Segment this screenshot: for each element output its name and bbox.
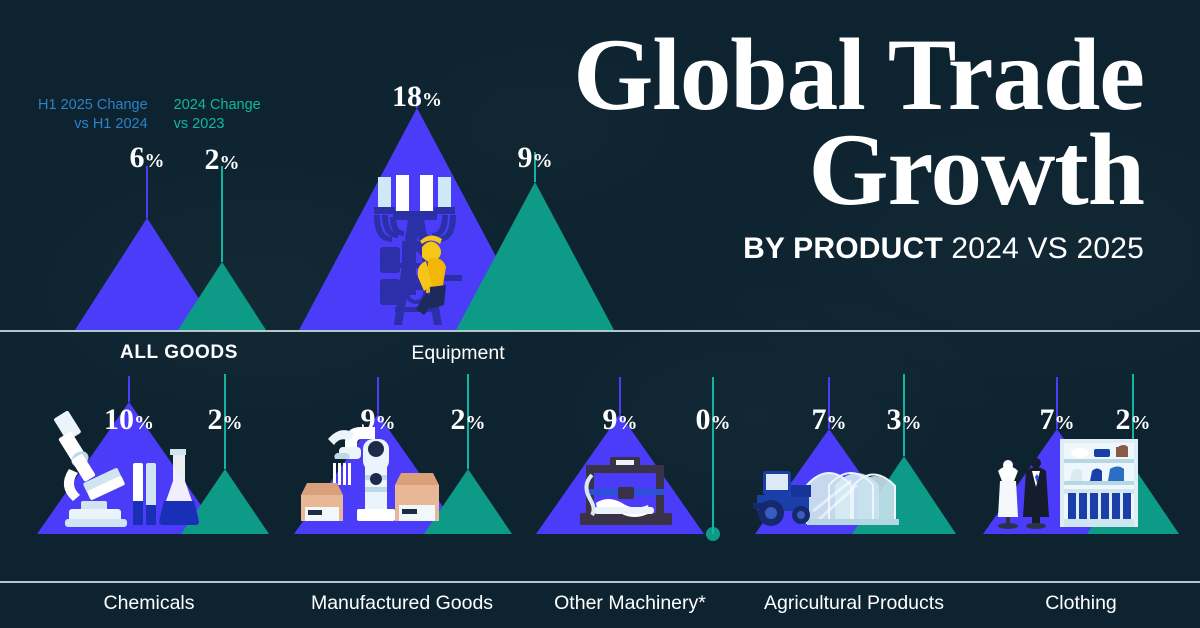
clothing-h1-2025-value-number: 7 [1040, 403, 1055, 436]
manufactured-goods-h1-2025-value-percent-sign: % [376, 412, 396, 434]
category-label-clothing: Clothing [1045, 592, 1117, 615]
clothing-h1-2025-value-percent-sign: % [1055, 412, 1075, 434]
category-label-manufactured-goods: Manufactured Goods [311, 592, 493, 615]
other-machinery-2024-value-percent-sign: % [711, 412, 731, 434]
agricultural-products-h1-2025-value-percent-sign: % [827, 412, 847, 434]
all-goods-2024-triangle [178, 262, 266, 330]
manufactured-goods-2024-value-percent-sign: % [466, 412, 486, 434]
chart-row-top: 6%2%18%9% [0, 0, 1200, 330]
clothing-2024-value-number: 2 [1116, 403, 1131, 436]
chemicals-h1-2025-value-percent-sign: % [134, 412, 154, 434]
other-machinery-2024-value: 0% [696, 405, 731, 435]
equipment-h1-2025-value-number: 18 [392, 80, 422, 113]
category-label-chemicals: Chemicals [103, 592, 194, 615]
other-machinery-2024-stem [712, 377, 714, 534]
clothing-2024-value: 2% [1116, 405, 1151, 435]
chemicals-h1-2025-stem [128, 376, 130, 402]
agricultural-products-h1-2025-value: 7% [812, 405, 847, 435]
manufactured-goods-h1-2025-value: 9% [361, 405, 396, 435]
3d-printer-icon [570, 453, 690, 534]
cell-tower-icon [350, 175, 480, 330]
manufactured-goods-2024-value: 2% [451, 405, 486, 435]
other-machinery-h1-2025-value-percent-sign: % [618, 412, 638, 434]
equipment-2024-value-number: 9 [518, 141, 533, 174]
chemicals-h1-2025-value: 10% [104, 405, 154, 435]
other-machinery-h1-2025-value: 9% [603, 405, 638, 435]
equipment-2024-value: 9% [518, 143, 553, 173]
all-goods-2024-value: 2% [205, 145, 240, 175]
all-goods-h1-2025-value-percent-sign: % [145, 150, 165, 172]
all-goods-2024-stem [221, 166, 223, 262]
chemicals-2024-value-number: 2 [208, 403, 223, 436]
agricultural-products-h1-2025-value-number: 7 [812, 403, 827, 436]
other-machinery-2024-value-number: 0 [696, 403, 711, 436]
divider-bottom [0, 581, 1200, 583]
clothing-2024-value-percent-sign: % [1131, 412, 1151, 434]
equipment-h1-2025-value: 18% [392, 82, 442, 112]
manufactured-goods-h1-2025-value-number: 9 [361, 403, 376, 436]
agricultural-products-2024-value: 3% [887, 405, 922, 435]
all-goods-2024-value-percent-sign: % [220, 152, 240, 174]
clothing-store-icon [982, 437, 1142, 534]
category-label-agricultural-products: Agricultural Products [764, 592, 944, 615]
all-goods-h1-2025-stem [146, 166, 148, 218]
chart-row-bottom: 10%2% 9%2% 9%0% 7%3% [0, 330, 1200, 581]
category-label-other-machinery: Other Machinery* [554, 592, 706, 615]
equipment-h1-2025-value-percent-sign: % [422, 89, 442, 111]
chemicals-2024-value: 2% [208, 405, 243, 435]
all-goods-h1-2025-value-number: 6 [130, 141, 145, 174]
manufactured-goods-2024-value-number: 2 [451, 403, 466, 436]
equipment-2024-value-percent-sign: % [533, 150, 553, 172]
clothing-h1-2025-value: 7% [1040, 405, 1075, 435]
chemicals-2024-value-percent-sign: % [223, 412, 243, 434]
tractor-greenhouse-icon [753, 441, 923, 534]
other-machinery-h1-2025-value-number: 9 [603, 403, 618, 436]
infographic-canvas: Global Trade Growth BY PRODUCT 2024 VS 2… [0, 0, 1200, 628]
chemicals-h1-2025-value-number: 10 [104, 403, 134, 436]
all-goods-2024-value-number: 2 [205, 143, 220, 176]
agricultural-products-2024-value-percent-sign: % [902, 412, 922, 434]
all-goods-h1-2025-value: 6% [130, 143, 165, 173]
agricultural-products-2024-value-number: 3 [887, 403, 902, 436]
